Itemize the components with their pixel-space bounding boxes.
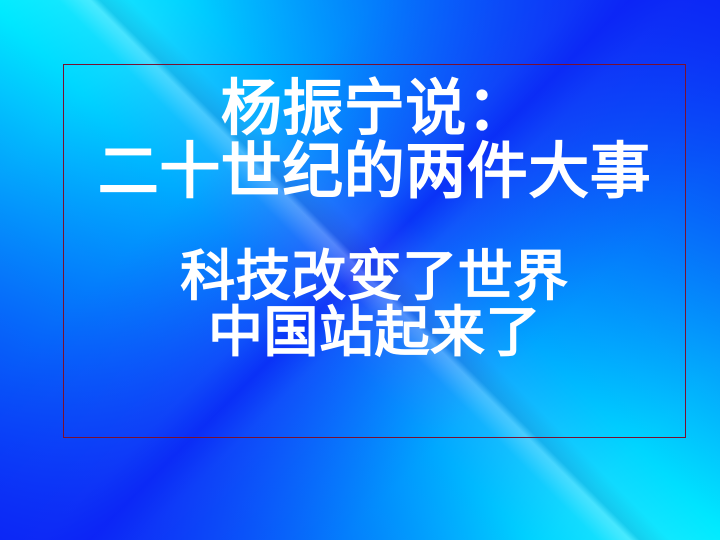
presentation-slide: 杨振宁说： 二十世纪的两件大事 科技改变了世界 中国站起来了 (0, 0, 720, 540)
content-placeholder-border[interactable] (63, 64, 686, 438)
